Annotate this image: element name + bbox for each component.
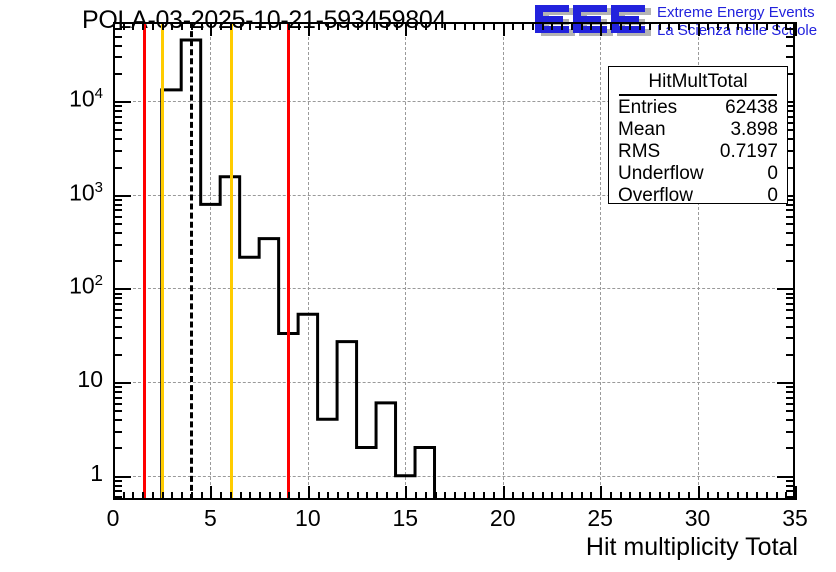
axis-tick <box>786 410 795 412</box>
axis-tick <box>777 476 795 478</box>
axis-tick <box>707 492 709 500</box>
axis-tick <box>386 492 388 500</box>
x-tick-label: 25 <box>570 505 630 532</box>
stats-row-underflow: Underflow 0 <box>609 163 787 185</box>
axis-tick <box>376 492 378 500</box>
axis-tick <box>786 386 795 388</box>
axis-tick <box>113 129 122 131</box>
axis-tick <box>454 492 456 500</box>
axis-tick <box>113 101 131 103</box>
axis-tick <box>113 232 122 234</box>
axis-tick <box>230 492 232 500</box>
axis-tick <box>201 22 203 30</box>
stats-label-mean: Mean <box>618 119 666 141</box>
axis-tick <box>113 138 122 140</box>
stats-value-entries: 62438 <box>725 97 778 119</box>
axis-tick <box>668 492 670 500</box>
axis-tick <box>659 492 661 500</box>
axis-tick <box>503 486 505 500</box>
axis-tick <box>259 492 261 500</box>
axis-tick <box>162 22 164 30</box>
axis-tick <box>113 122 122 124</box>
axis-tick <box>786 326 795 328</box>
axis-tick <box>786 209 795 211</box>
axis-tick <box>308 486 310 500</box>
axis-tick <box>473 492 475 500</box>
axis-tick <box>649 22 651 30</box>
axis-tick <box>240 22 242 30</box>
axis-tick <box>435 22 437 30</box>
stats-label-overflow: Overflow <box>618 185 693 207</box>
axis-tick <box>639 22 641 30</box>
axis-tick <box>727 22 729 30</box>
axis-tick <box>717 492 719 500</box>
stats-value-overflow: 0 <box>767 185 778 207</box>
stats-row-overflow: Overflow 0 <box>609 185 787 207</box>
axis-tick <box>113 73 122 75</box>
axis-tick <box>786 45 795 47</box>
y-tick-label: 104 <box>33 85 103 113</box>
x-tick-label: 5 <box>180 505 240 532</box>
axis-tick <box>298 22 300 30</box>
axis-tick <box>113 45 122 47</box>
x-tick-label: 0 <box>83 505 143 532</box>
x-axis-title: Hit multiplicity Total <box>586 533 798 562</box>
stats-value-mean: 3.898 <box>730 119 778 141</box>
axis-tick <box>191 492 193 500</box>
axis-tick <box>571 22 573 30</box>
x-tick-label: 15 <box>375 505 435 532</box>
axis-tick <box>786 260 795 262</box>
axis-tick <box>220 492 222 500</box>
axis-tick <box>415 22 417 30</box>
axis-tick <box>688 492 690 500</box>
axis-tick <box>454 22 456 30</box>
axis-tick <box>776 492 778 500</box>
axis-tick <box>142 492 144 500</box>
axis-tick <box>366 492 368 500</box>
axis-tick <box>493 22 495 30</box>
axis-tick <box>337 22 339 30</box>
axis-tick <box>620 492 622 500</box>
axis-tick <box>717 22 719 30</box>
axis-tick <box>113 199 122 201</box>
axis-tick <box>113 167 122 169</box>
axis-tick <box>113 496 122 498</box>
axis-tick <box>113 116 122 118</box>
axis-tick <box>113 447 122 449</box>
axis-tick <box>308 22 310 36</box>
stats-label-rms: RMS <box>618 141 660 163</box>
axis-tick <box>366 22 368 30</box>
axis-tick <box>288 22 290 30</box>
axis-tick <box>298 492 300 500</box>
axis-tick <box>113 490 122 492</box>
axis-tick <box>542 492 544 500</box>
y-tick-label: 103 <box>33 179 103 207</box>
axis-tick <box>737 492 739 500</box>
axis-tick <box>581 492 583 500</box>
axis-tick <box>210 22 212 36</box>
axis-tick <box>210 486 212 500</box>
axis-tick <box>522 492 524 500</box>
axis-tick <box>786 403 795 405</box>
axis-tick <box>512 492 514 500</box>
axis-tick <box>337 492 339 500</box>
stats-row-rms: RMS 0.7197 <box>609 141 787 163</box>
axis-tick <box>220 22 222 30</box>
axis-tick <box>405 22 407 36</box>
axis-tick <box>777 288 795 290</box>
axis-tick <box>786 56 795 58</box>
axis-tick <box>113 317 122 319</box>
axis-tick <box>571 492 573 500</box>
stats-value-underflow: 0 <box>767 163 778 185</box>
axis-tick <box>240 492 242 500</box>
axis-tick <box>376 22 378 30</box>
axis-tick <box>113 22 122 24</box>
axis-tick <box>786 204 795 206</box>
axis-tick <box>347 492 349 500</box>
axis-tick <box>786 447 795 449</box>
axis-tick <box>113 410 122 412</box>
axis-tick <box>512 22 514 30</box>
axis-tick <box>786 397 795 399</box>
y-tick-label: 102 <box>33 272 103 300</box>
axis-tick <box>786 485 795 487</box>
axis-tick <box>113 391 122 393</box>
axis-tick <box>191 22 193 30</box>
axis-tick <box>561 22 563 30</box>
axis-tick <box>786 22 795 24</box>
axis-tick <box>113 36 122 38</box>
axis-tick <box>786 431 795 433</box>
axis-tick <box>786 293 795 295</box>
axis-tick <box>152 22 154 30</box>
axis-tick <box>786 28 795 30</box>
axis-tick <box>786 496 795 498</box>
axis-tick <box>113 397 122 399</box>
axis-tick <box>259 22 261 30</box>
y-tick-label: 10 <box>33 366 103 393</box>
axis-tick <box>786 232 795 234</box>
axis-tick <box>327 22 329 30</box>
axis-tick <box>795 22 797 36</box>
axis-tick <box>668 22 670 30</box>
axis-tick <box>318 492 320 500</box>
axis-tick <box>522 22 524 30</box>
axis-tick <box>396 22 398 30</box>
axis-tick <box>279 492 281 500</box>
axis-tick <box>142 22 144 30</box>
axis-tick <box>113 354 122 356</box>
axis-tick <box>113 326 122 328</box>
axis-tick <box>746 492 748 500</box>
axis-tick <box>113 56 122 58</box>
axis-tick <box>113 28 122 30</box>
axis-tick <box>113 337 122 339</box>
axis-tick <box>483 492 485 500</box>
axis-tick <box>698 22 700 36</box>
stats-row-entries: Entries 62438 <box>609 97 787 119</box>
axis-tick <box>123 492 125 500</box>
axis-tick <box>590 492 592 500</box>
y-tick-label: 1 <box>33 460 103 487</box>
axis-tick <box>532 492 534 500</box>
axis-tick <box>113 223 122 225</box>
axis-tick <box>415 492 417 500</box>
logo-line-1: Extreme Energy Events <box>657 4 817 22</box>
axis-tick <box>756 492 758 500</box>
axis-tick <box>113 195 131 197</box>
axis-tick <box>444 492 446 500</box>
axis-tick <box>503 22 505 36</box>
axis-tick <box>678 492 680 500</box>
axis-tick <box>113 382 131 384</box>
axis-tick <box>600 22 602 36</box>
axis-tick <box>288 492 290 500</box>
axis-tick <box>629 22 631 30</box>
axis-tick <box>786 337 795 339</box>
axis-tick <box>357 22 359 30</box>
axis-tick <box>707 22 709 30</box>
axis-tick <box>162 492 164 500</box>
axis-tick <box>610 492 612 500</box>
axis-tick <box>590 22 592 30</box>
axis-tick <box>795 486 797 500</box>
axis-tick <box>776 22 778 30</box>
axis-tick <box>493 492 495 500</box>
axis-tick <box>425 492 427 500</box>
x-tick-label: 30 <box>668 505 728 532</box>
axis-tick <box>113 204 122 206</box>
axis-tick <box>347 22 349 30</box>
root-canvas: POLA-03-2025-10-21-593459804 Extreme Ene… <box>0 0 836 572</box>
axis-tick <box>113 303 122 305</box>
axis-tick <box>171 22 173 30</box>
axis-tick <box>386 22 388 30</box>
stats-label-underflow: Underflow <box>618 163 704 185</box>
axis-tick <box>230 22 232 30</box>
axis-tick <box>551 492 553 500</box>
x-tick-label: 20 <box>473 505 533 532</box>
axis-tick <box>786 309 795 311</box>
axis-tick <box>113 403 122 405</box>
axis-tick <box>629 492 631 500</box>
axis-tick <box>113 297 122 299</box>
axis-tick <box>357 492 359 500</box>
axis-tick <box>113 105 122 107</box>
axis-tick <box>786 419 795 421</box>
axis-tick <box>405 486 407 500</box>
axis-tick <box>542 22 544 30</box>
axis-tick <box>113 150 122 152</box>
axis-tick <box>532 22 534 30</box>
axis-tick <box>786 36 795 38</box>
axis-tick <box>249 22 251 30</box>
axis-tick <box>786 244 795 246</box>
axis-tick <box>746 22 748 30</box>
axis-tick <box>786 490 795 492</box>
axis-tick <box>113 244 122 246</box>
stats-label-entries: Entries <box>618 97 677 119</box>
axis-tick <box>659 22 661 30</box>
axis-tick <box>766 492 768 500</box>
axis-tick <box>786 303 795 305</box>
axis-tick <box>113 209 122 211</box>
axis-tick <box>113 110 122 112</box>
axis-tick <box>113 480 122 482</box>
axis-tick <box>269 22 271 30</box>
axis-tick <box>786 480 795 482</box>
axis-tick <box>678 22 680 30</box>
axis-tick <box>113 260 122 262</box>
axis-tick <box>473 22 475 30</box>
stats-box: HitMultTotal Entries 62438 Mean 3.898 RM… <box>608 66 788 204</box>
axis-tick <box>123 22 125 30</box>
axis-tick <box>620 22 622 30</box>
axis-tick <box>551 22 553 30</box>
x-tick-label: 10 <box>278 505 338 532</box>
axis-tick <box>113 309 122 311</box>
axis-tick <box>727 492 729 500</box>
axis-tick <box>777 382 795 384</box>
axis-tick <box>444 22 446 30</box>
axis-tick <box>113 386 122 388</box>
axis-tick <box>698 486 700 500</box>
axis-tick <box>113 288 131 290</box>
stats-title: HitMultTotal <box>619 69 777 96</box>
axis-tick <box>561 492 563 500</box>
axis-tick <box>132 22 134 30</box>
axis-tick <box>425 22 427 30</box>
axis-tick <box>464 22 466 30</box>
axis-tick <box>786 317 795 319</box>
axis-tick <box>113 485 122 487</box>
axis-tick <box>132 492 134 500</box>
axis-tick <box>786 391 795 393</box>
axis-tick <box>786 216 795 218</box>
stats-row-mean: Mean 3.898 <box>609 119 787 141</box>
axis-tick <box>786 223 795 225</box>
axis-tick <box>483 22 485 30</box>
axis-tick <box>639 492 641 500</box>
axis-tick <box>600 486 602 500</box>
axis-tick <box>435 492 437 500</box>
axis-tick <box>649 492 651 500</box>
axis-tick <box>249 492 251 500</box>
x-tick-label: 35 <box>765 505 825 532</box>
axis-tick <box>152 492 154 500</box>
axis-tick <box>396 492 398 500</box>
axis-tick <box>201 492 203 500</box>
axis-tick <box>113 431 122 433</box>
stats-value-rms: 0.7197 <box>720 141 778 163</box>
axis-tick <box>113 293 122 295</box>
axis-tick <box>113 419 122 421</box>
axis-tick <box>786 297 795 299</box>
axis-tick <box>171 492 173 500</box>
axis-tick <box>181 492 183 500</box>
axis-tick <box>113 216 122 218</box>
axis-tick <box>766 22 768 30</box>
axis-tick <box>610 22 612 30</box>
axis-tick <box>113 476 131 478</box>
axis-tick <box>269 492 271 500</box>
axis-tick <box>581 22 583 30</box>
axis-tick <box>464 492 466 500</box>
axis-tick <box>756 22 758 30</box>
axis-tick <box>327 492 329 500</box>
axis-tick <box>737 22 739 30</box>
axis-tick <box>786 354 795 356</box>
axis-tick <box>318 22 320 30</box>
axis-tick <box>279 22 281 30</box>
axis-tick <box>688 22 690 30</box>
axis-tick <box>181 22 183 30</box>
